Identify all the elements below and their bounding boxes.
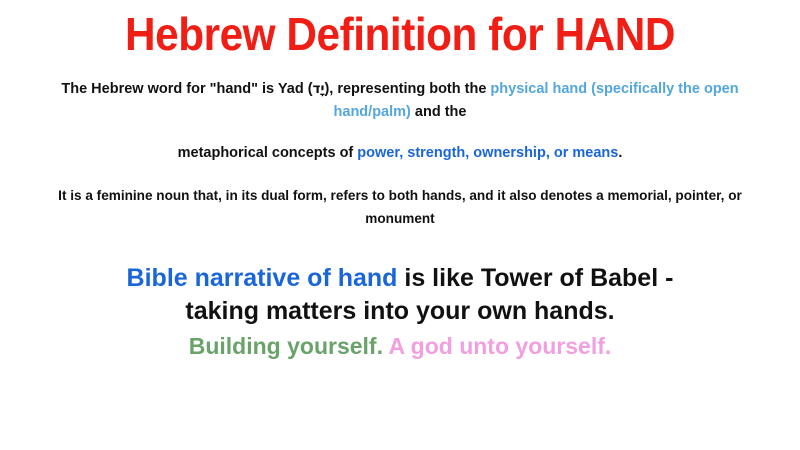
page-title: Hebrew Definition for HAND <box>32 8 768 60</box>
metaphor-highlight-concepts: power, strength, ownership, or means <box>357 145 618 161</box>
paragraph-grammar: It is a feminine noun that, in its dual … <box>12 184 788 230</box>
closing-line-2: taking matters into your own hands. <box>0 295 800 328</box>
definition-text-mid: ), representing both the <box>324 81 490 97</box>
body-content: The Hebrew word for "hand" is Yad (יָד),… <box>0 78 800 230</box>
closing-highlight-building-yourself: Building yourself. <box>189 333 383 359</box>
closing-line-1: Bible narrative of hand is like Tower of… <box>0 262 800 295</box>
paragraph-definition: The Hebrew word for "hand" is Yad (יָד),… <box>0 78 800 124</box>
closing-highlight-a-god-unto-yourself: A god unto yourself. <box>389 333 612 359</box>
definition-text-lead: The Hebrew word for "hand" is Yad ( <box>61 81 312 97</box>
closing-block: Bible narrative of hand is like Tower of… <box>0 262 800 362</box>
metaphor-text-lead: metaphorical concepts of <box>178 145 358 161</box>
definition-text-tail: and the <box>411 104 467 120</box>
closing-line-2-text: taking matters into your own hands. <box>185 297 614 325</box>
closing-highlight-bible-narrative: Bible narrative of hand <box>127 264 398 292</box>
metaphor-text-period: . <box>618 145 622 161</box>
grammar-text: It is a feminine noun that, in its dual … <box>58 187 742 226</box>
slide-canvas: Hebrew Definition for HAND The Hebrew wo… <box>0 0 800 450</box>
closing-line-1-tail: is like Tower of Babel - <box>397 264 673 292</box>
closing-line-3: Building yourself. A god unto yourself. <box>0 330 800 362</box>
paragraph-metaphor: metaphorical concepts of power, strength… <box>0 142 800 165</box>
hebrew-word-yad: יָד <box>313 81 325 97</box>
